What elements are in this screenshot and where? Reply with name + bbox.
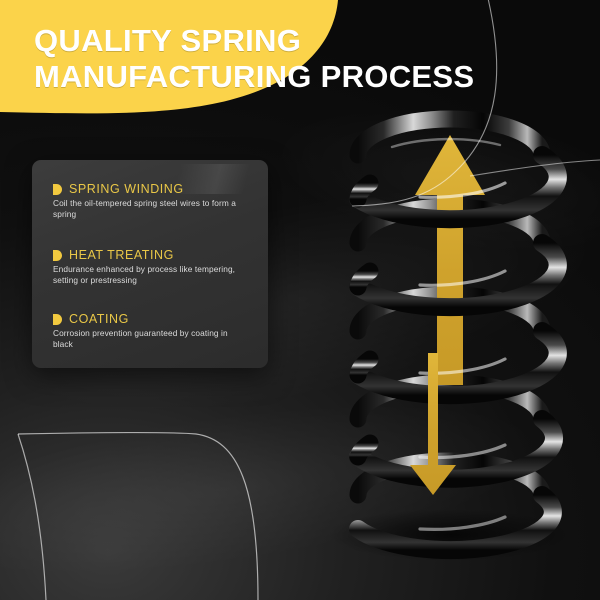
step-header: COATING <box>53 312 253 326</box>
poster-canvas: QUALITY SPRING MANUFACTURING PROCESS SPR… <box>0 0 600 600</box>
process-step-coating: COATING Corrosion prevention guaranteed … <box>53 312 253 350</box>
decorative-corner-arc-inner <box>18 434 46 600</box>
decorative-corner-arc-outer <box>18 433 258 600</box>
title-line-1: QUALITY SPRING <box>34 26 554 57</box>
page-title: QUALITY SPRING MANUFACTURING PROCESS <box>34 26 554 92</box>
step-header: SPRING WINDING <box>53 182 253 196</box>
half-circle-bullet-icon <box>53 184 62 195</box>
step-description: Corrosion prevention guaranteed by coati… <box>53 328 249 350</box>
process-step-spring-winding: SPRING WINDING Coil the oil-tempered spr… <box>53 182 253 220</box>
process-steps-card: SPRING WINDING Coil the oil-tempered spr… <box>32 160 268 368</box>
step-header: HEAT TREATING <box>53 248 253 262</box>
step-title: SPRING WINDING <box>69 182 184 196</box>
half-circle-bullet-icon <box>53 314 62 325</box>
step-title: HEAT TREATING <box>69 248 174 262</box>
step-description: Endurance enhanced by process like tempe… <box>53 264 249 286</box>
arrow-up-icon <box>415 135 485 385</box>
title-line-2: MANUFACTURING PROCESS <box>34 62 554 93</box>
process-step-heat-treating: HEAT TREATING Endurance enhanced by proc… <box>53 248 253 286</box>
step-description: Coil the oil-tempered spring steel wires… <box>53 198 249 220</box>
half-circle-bullet-icon <box>53 250 62 261</box>
step-title: COATING <box>69 312 129 326</box>
